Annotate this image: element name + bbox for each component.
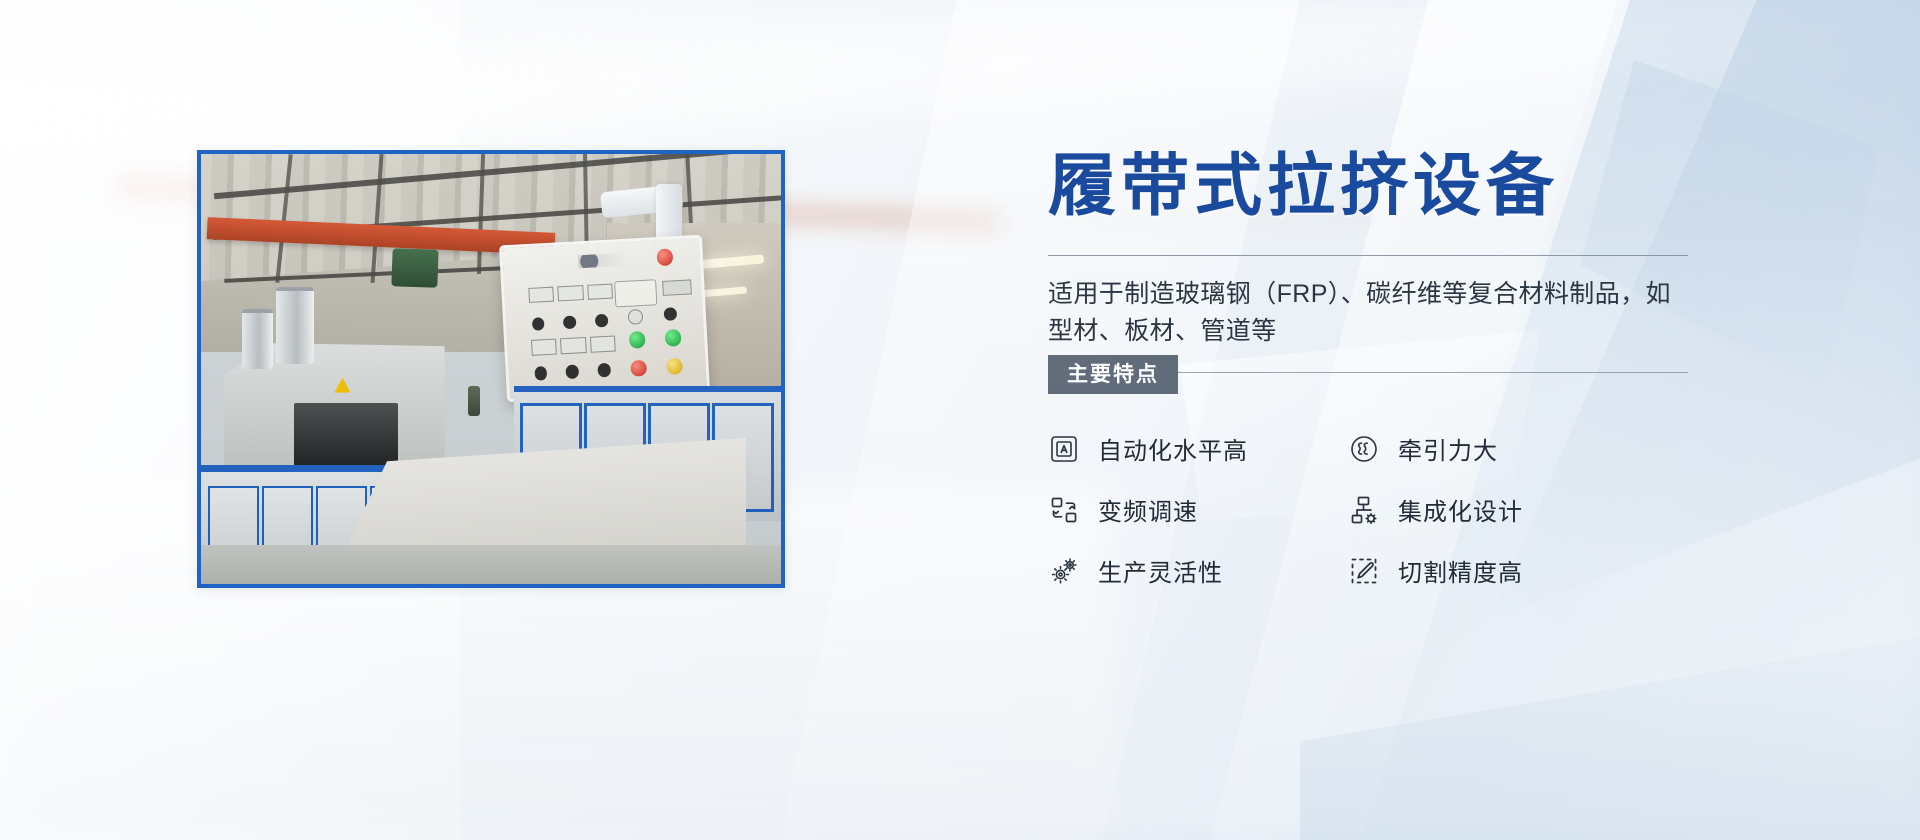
banner-content: 履带式拉挤设备 适用于制造玻璃钢（FRP）、碳纤维等复合材料制品，如型材、板材、…: [1048, 150, 1688, 588]
product-description: 适用于制造玻璃钢（FRP）、碳纤维等复合材料制品，如型材、板材、管道等: [1048, 276, 1693, 350]
features-divider: 主要特点: [1048, 372, 1688, 373]
gears-icon: [1048, 555, 1080, 587]
title-divider: [1048, 255, 1688, 256]
product-banner: 履带式拉挤设备 适用于制造玻璃钢（FRP）、碳纤维等复合材料制品，如型材、板材、…: [0, 0, 1920, 840]
product-photo: [201, 154, 781, 584]
traction-icon: [1348, 433, 1380, 465]
integration-icon: [1348, 494, 1380, 526]
feature-item-frequency: 变频调速: [1048, 492, 1348, 527]
feature-label: 牵引力大: [1398, 431, 1498, 466]
feature-label: 自动化水平高: [1098, 431, 1248, 466]
frequency-icon: [1048, 494, 1080, 526]
feature-list: 自动化水平高 牵引力大: [1048, 431, 1688, 588]
status-badge: 主要特点: [1048, 355, 1178, 394]
page-title: 履带式拉挤设备: [1048, 150, 1688, 223]
feature-item-flexibility: 生产灵活性: [1048, 553, 1348, 588]
photo-tone-overlay: [201, 154, 781, 584]
precision-cut-icon: [1348, 555, 1380, 587]
product-photo-frame: [197, 150, 785, 588]
feature-label: 变频调速: [1098, 492, 1198, 527]
feature-label: 生产灵活性: [1098, 553, 1223, 588]
feature-label: 集成化设计: [1398, 492, 1523, 527]
feature-item-automation: 自动化水平高: [1048, 431, 1348, 466]
feature-label: 切割精度高: [1398, 553, 1523, 588]
automation-icon: [1048, 433, 1080, 465]
feature-item-traction: 牵引力大: [1348, 431, 1648, 466]
feature-item-integration: 集成化设计: [1348, 492, 1648, 527]
feature-item-precision: 切割精度高: [1348, 553, 1648, 588]
